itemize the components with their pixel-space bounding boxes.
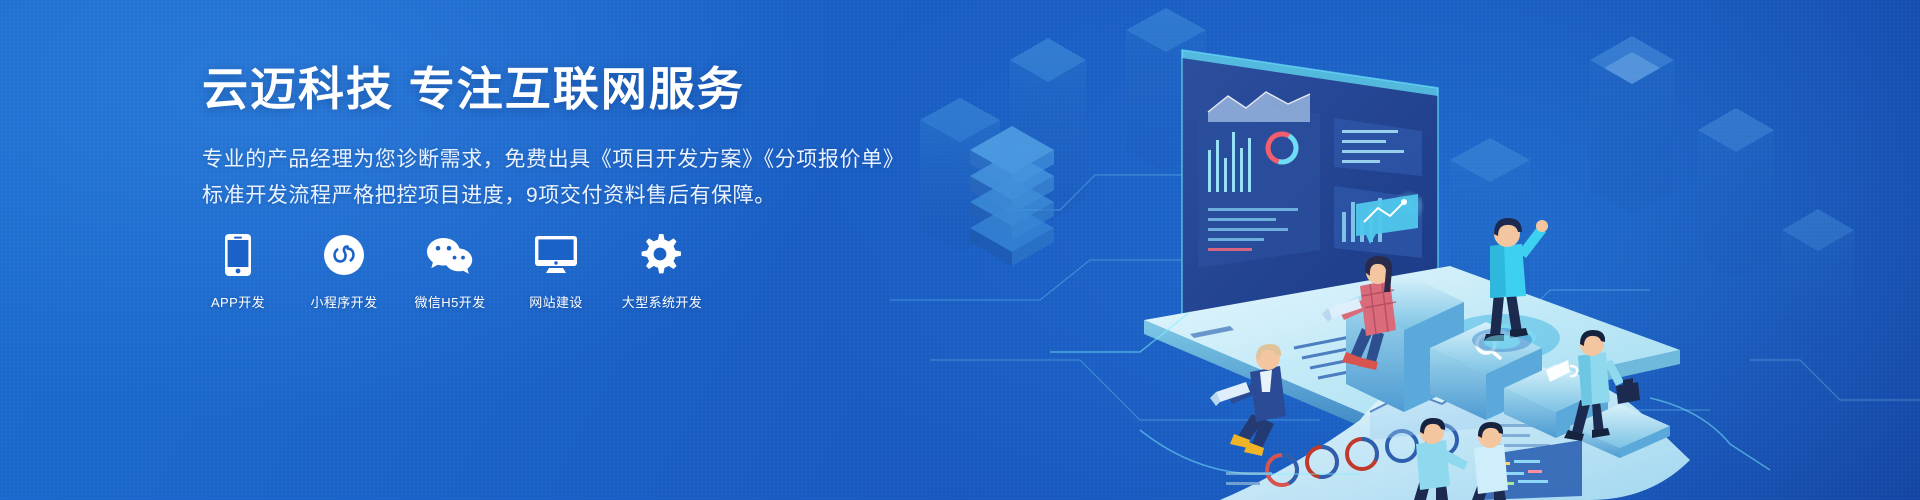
gear-icon xyxy=(641,232,683,278)
service-item-app[interactable]: APP开发 xyxy=(202,232,274,311)
promo-banner: 云迈科技 专注互联网服务 专业的产品经理为您诊断需求，免费出具《项目开发方案》《… xyxy=(0,0,1920,500)
tablet-platform xyxy=(1144,266,1680,432)
service-list: APP开发 小程序开发 xyxy=(202,232,698,311)
service-item-large-system[interactable]: 大型系统开发 xyxy=(626,232,698,311)
server-stack xyxy=(970,126,1054,266)
service-label: 大型系统开发 xyxy=(622,292,702,311)
service-label: APP开发 xyxy=(211,292,265,311)
sitting-person-laptop xyxy=(1210,344,1286,456)
two-people-front xyxy=(1414,418,1508,500)
walking-person-briefcase xyxy=(1564,330,1640,441)
page-title: 云迈科技 专注互联网服务 xyxy=(202,62,902,116)
service-label: 网站建设 xyxy=(529,292,583,311)
service-item-website[interactable]: 网站建设 xyxy=(520,232,592,311)
step-blocks xyxy=(1346,274,1670,458)
monitor-icon xyxy=(535,232,577,278)
banner-subtitle: 专业的产品经理为您诊断需求，免费出具《项目开发方案》《分项报价单》 标准开发流程… xyxy=(202,142,902,214)
service-item-wechat-h5[interactable]: 微信H5开发 xyxy=(414,232,486,311)
woman-on-block-laptop xyxy=(1322,256,1396,370)
smartphone-icon xyxy=(225,232,251,278)
banner-text-block: 云迈科技 专注互联网服务 专业的产品经理为您诊断需求，免费出具《项目开发方案》《… xyxy=(202,62,902,214)
subtitle-line-2: 标准开发流程严格把控项目进度，9项交付资料售后有保障。 xyxy=(202,178,902,214)
data-report-scroll xyxy=(1220,361,1690,500)
chat-bubble-chart xyxy=(1356,194,1418,244)
circuit-lines xyxy=(890,175,1920,470)
subtitle-line-1: 专业的产品经理为您诊断需求，免费出具《项目开发方案》《分项报价单》 xyxy=(202,142,902,178)
dashboard-screen xyxy=(1182,50,1438,330)
mini-program-icon xyxy=(324,232,364,278)
service-item-mini-program[interactable]: 小程序开发 xyxy=(308,232,380,311)
service-label: 小程序开发 xyxy=(310,292,377,311)
service-label: 微信H5开发 xyxy=(414,292,485,311)
isometric-tech-illustration xyxy=(890,0,1920,500)
wechat-icon xyxy=(426,232,474,278)
standing-person xyxy=(1472,218,1548,352)
base-glow-lines xyxy=(1050,312,1770,474)
city-blocks xyxy=(920,8,1854,351)
